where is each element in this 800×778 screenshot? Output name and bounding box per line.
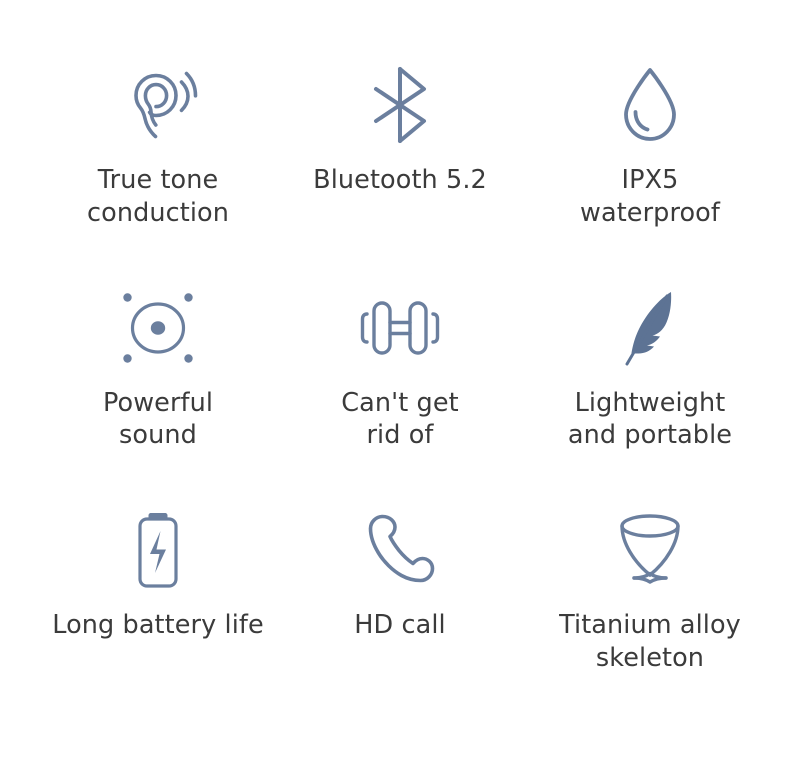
feature-label: True tone conduction <box>87 164 229 229</box>
feature-item-waterproof: IPX5 waterproof <box>530 62 770 285</box>
water-drop-icon <box>619 62 681 148</box>
dumbbell-icon <box>358 285 442 371</box>
phone-handset-icon <box>362 507 438 593</box>
feature-item-bluetooth: Bluetooth 5.2 <box>280 62 520 285</box>
battery-charging-icon <box>132 507 184 593</box>
feature-item-true-tone-conduction: True tone conduction <box>38 62 278 285</box>
feature-label: Lightweight and portable <box>568 387 732 452</box>
speaker-driver-icon <box>118 285 198 371</box>
feature-item-hd-call: HD call <box>280 507 520 730</box>
feature-label: Powerful sound <box>103 387 213 452</box>
ear-sound-wave-icon <box>119 62 197 148</box>
titanium-skeleton-icon <box>614 507 686 593</box>
feature-label: Can't get rid of <box>341 387 458 452</box>
feather-icon <box>619 285 681 371</box>
feature-item-titanium-skeleton: Titanium alloy skeleton <box>530 507 770 730</box>
feature-label: IPX5 waterproof <box>580 164 720 229</box>
bluetooth-icon <box>364 62 436 148</box>
feature-item-cant-get-rid-of: Can't get rid of <box>280 285 520 508</box>
feature-item-battery-life: Long battery life <box>38 507 278 730</box>
feature-label: Bluetooth 5.2 <box>313 164 487 197</box>
feature-item-lightweight: Lightweight and portable <box>530 285 770 508</box>
feature-label: Titanium alloy skeleton <box>559 609 741 674</box>
feature-label: Long battery life <box>52 609 264 642</box>
feature-item-powerful-sound: Powerful sound <box>38 285 278 508</box>
feature-label: HD call <box>354 609 445 642</box>
feature-grid: True tone conduction Bluetooth 5.2 IPX5 … <box>0 0 800 778</box>
